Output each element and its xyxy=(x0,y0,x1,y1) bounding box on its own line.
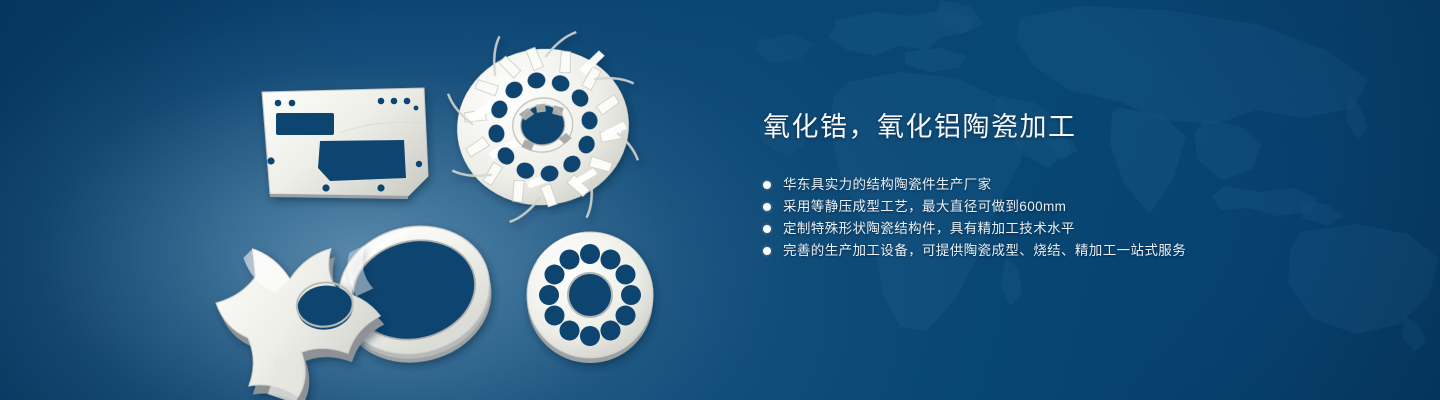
bullet-dot-icon xyxy=(763,203,771,211)
list-item-label: 采用等静压成型工艺，最大直径可做到600mm xyxy=(783,196,1066,218)
banner-copy: 氧化锆，氧化铝陶瓷加工 华东具实力的结构陶瓷件生产厂家 采用等静压成型工艺，最大… xyxy=(763,110,1383,262)
ceramic-cross-shaped-part xyxy=(211,236,392,400)
list-item: 华东具实力的结构陶瓷件生产厂家 xyxy=(763,174,1383,196)
ceramic-products-photo xyxy=(0,0,760,400)
bullet-dot-icon xyxy=(763,247,771,255)
ceramic-perforated-disc xyxy=(527,232,653,363)
list-item-label: 定制特殊形状陶瓷结构件，具有精加工技术水平 xyxy=(783,218,1075,240)
feature-list: 华东具实力的结构陶瓷件生产厂家 采用等静压成型工艺，最大直径可做到600mm 定… xyxy=(763,174,1383,262)
page-title: 氧化锆，氧化铝陶瓷加工 xyxy=(763,110,1383,144)
bullet-dot-icon xyxy=(763,181,771,189)
list-item: 采用等静压成型工艺，最大直径可做到600mm xyxy=(763,196,1383,218)
list-item-label: 完善的生产加工设备，可提供陶瓷成型、烧结、精加工一站式服务 xyxy=(783,240,1186,262)
bullet-dot-icon xyxy=(763,225,771,233)
ceramic-plate-with-cutouts xyxy=(262,88,428,199)
list-item-label: 华东具实力的结构陶瓷件生产厂家 xyxy=(783,174,992,196)
ceramic-ring xyxy=(325,210,505,378)
ceramic-impeller-disc xyxy=(435,19,652,236)
list-item: 完善的生产加工设备，可提供陶瓷成型、烧结、精加工一站式服务 xyxy=(763,240,1383,262)
product-banner: 氧化锆，氧化铝陶瓷加工 华东具实力的结构陶瓷件生产厂家 采用等静压成型工艺，最大… xyxy=(0,0,1440,400)
list-item: 定制特殊形状陶瓷结构件，具有精加工技术水平 xyxy=(763,218,1383,240)
